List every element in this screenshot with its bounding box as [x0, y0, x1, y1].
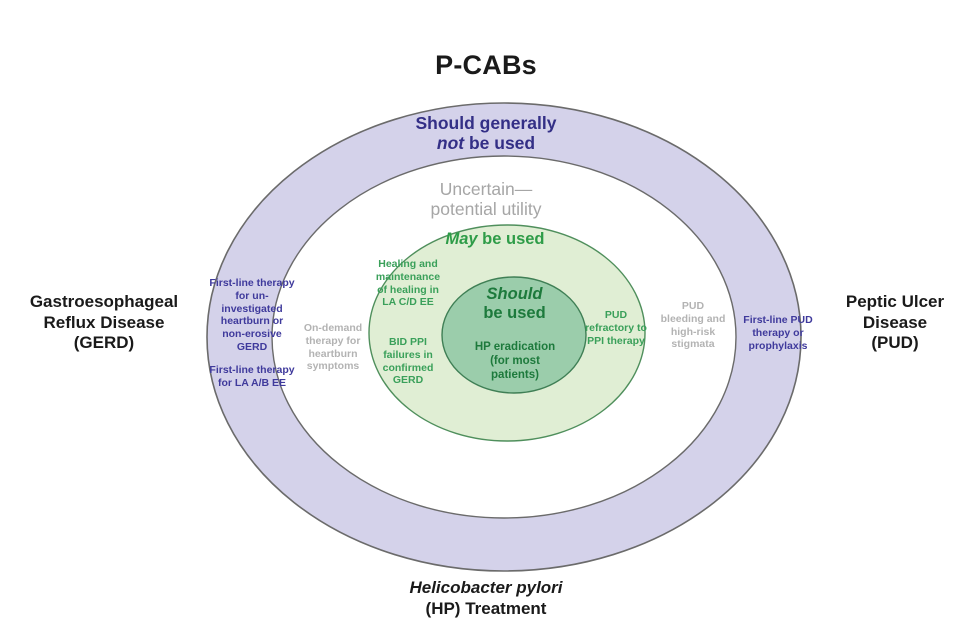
ring-heading-outer: Should generally not be used: [336, 113, 636, 154]
label-gerd-line2: Reflux Disease: [4, 313, 204, 334]
label-hp-treatment: Helicobacter pylori (HP) Treatment: [336, 578, 636, 619]
ring-heading-inner-rest: be used: [478, 230, 545, 248]
ring-heading-inner: May be used: [400, 230, 590, 249]
ring-heading-outer-rest: be used: [464, 133, 535, 153]
label-gerd-line1: Gastroesophageal: [4, 292, 204, 313]
ring-heading-middle: Uncertain— potential utility: [356, 179, 616, 220]
detail-healing-maintenance: Healing and maintenance of healing in LA…: [372, 258, 444, 309]
ring-heading-inner-emphasis: May: [445, 230, 477, 248]
detail-bid-ppi-failures: BID PPI failures in confirmed GERD: [372, 336, 444, 387]
ring-heading-inner-line: May be used: [400, 230, 590, 249]
ring-heading-middle-line1: Uncertain—: [356, 179, 616, 199]
detail-pud-first-line: First-line PUD therapy or prophylaxis: [733, 314, 823, 352]
label-pud-line1: Peptic Ulcer: [818, 292, 972, 313]
label-gerd-line3: (GERD): [4, 333, 204, 354]
detail-gerd-first-line: First-line therapy for un-investigated h…: [208, 277, 296, 389]
detail-gerd-first-line-b: First-line therapy for LA A/B EE: [208, 364, 296, 390]
label-pud-line3: (PUD): [818, 333, 972, 354]
ring-heading-outer-line1: Should generally: [336, 113, 636, 133]
label-gerd: Gastroesophageal Reflux Disease (GERD): [4, 292, 204, 354]
detail-pud-refractory: PUD refractory to PPI therapy: [585, 309, 647, 347]
label-pud-line2: Disease: [818, 313, 972, 334]
ring-heading-core-line2: be used: [452, 304, 577, 323]
detail-gerd-first-line-a: First-line therapy for un-investigated h…: [208, 277, 296, 354]
ring-heading-outer-line2: not be used: [336, 133, 636, 153]
diagram-root: P-CABs Should generally not be used Unce…: [0, 0, 972, 632]
detail-spacer: [208, 354, 296, 364]
label-pud: Peptic Ulcer Disease (PUD): [818, 292, 972, 354]
label-hp-line2: (HP) Treatment: [336, 599, 636, 620]
ring-heading-core: Should be used: [452, 285, 577, 323]
detail-on-demand-therapy: On-demand therapy for heartburn symptoms: [300, 322, 366, 373]
ring-heading-core-emphasis: Should: [452, 285, 577, 304]
detail-hp-eradication: HP eradication (for most patients): [469, 341, 561, 382]
label-hp-species: Helicobacter pylori: [336, 578, 636, 599]
detail-pud-bleeding: PUD bleeding and high-risk stigmata: [660, 300, 726, 351]
ring-heading-middle-line2: potential utility: [356, 199, 616, 219]
ring-heading-outer-emphasis: not: [437, 133, 464, 153]
